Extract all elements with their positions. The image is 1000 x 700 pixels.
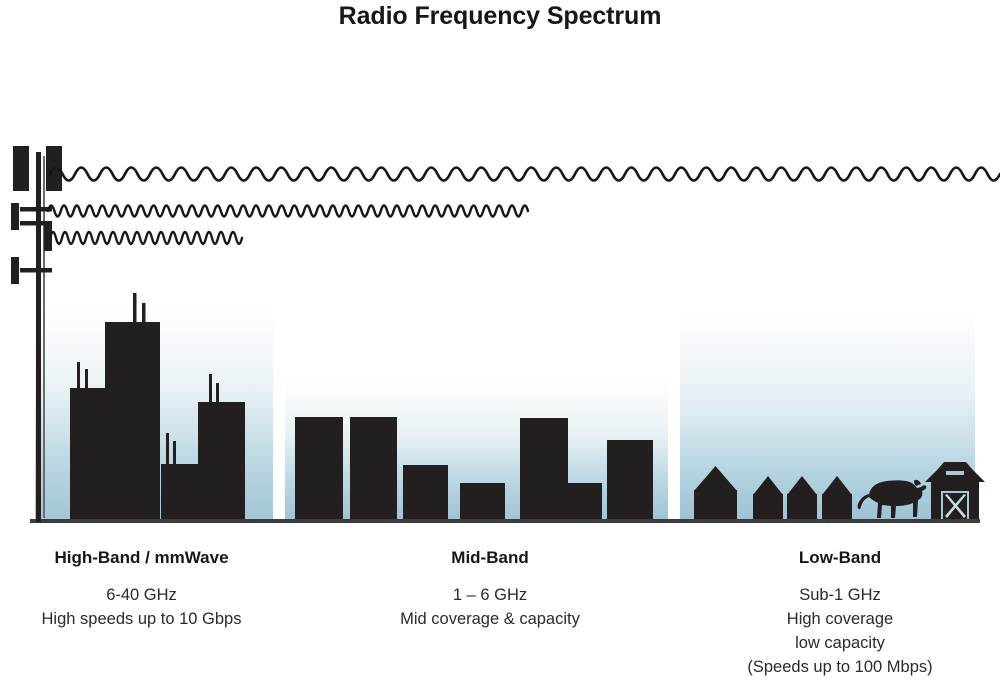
band-column-high-band: High-Band / mmWave 6-40 GHz High speeds … (0, 548, 283, 632)
band-description-mid-band: 1 – 6 GHz Mid coverage & capacity (340, 584, 640, 632)
cow-silhouette (858, 480, 927, 518)
city-skyline-high-band (70, 293, 245, 521)
band-column-low-band: Low-Band Sub-1 GHz High coverage low cap… (690, 548, 990, 679)
cell-tower (11, 146, 62, 522)
city-skyline-mid-band (295, 417, 653, 521)
rural-scene-low-band (694, 462, 985, 521)
tower-crossbar (20, 207, 52, 212)
antenna-panel (11, 203, 19, 230)
sky-panel-low-band (680, 310, 975, 520)
low-frequency-wave (50, 168, 1000, 181)
band-title-mid-band: Mid-Band (340, 548, 640, 568)
infographic-canvas: Radio Frequency Spectrum (0, 0, 1000, 700)
barn-silhouette (925, 462, 985, 521)
mid-frequency-wave (48, 206, 528, 217)
sky-panel-high-band (35, 307, 273, 520)
band-title-low-band: Low-Band (690, 548, 990, 568)
page-title: Radio Frequency Spectrum (0, 2, 1000, 31)
band-speed-low-band: (Speeds up to 100 Mbps) (690, 656, 990, 680)
antenna-panel (46, 146, 62, 191)
antenna-panel (44, 221, 52, 251)
tower-crossbar (20, 268, 52, 273)
ground-baseline (30, 519, 980, 523)
band-description-high-band: 6-40 GHz High speeds up to 10 Gbps (0, 584, 283, 632)
band-description-low-band: Sub-1 GHz High coverage low capacity (Sp… (690, 584, 990, 679)
band-speed-high-band: High speeds up to 10 Gbps (0, 608, 283, 632)
tower-crossbar (20, 221, 52, 226)
band-frequency-high-band: 6-40 GHz (0, 584, 283, 608)
high-frequency-wave (50, 232, 242, 244)
band-column-mid-band: Mid-Band 1 – 6 GHz Mid coverage & capaci… (340, 548, 640, 632)
farm-house (822, 476, 852, 521)
band-frequency-mid-band: 1 – 6 GHz (340, 584, 640, 608)
antenna-panel (11, 257, 19, 284)
farm-house (694, 466, 737, 521)
sky-panel-mid-band (285, 378, 668, 520)
band-capacity-low-band: low capacity (690, 632, 990, 656)
farm-house (753, 476, 783, 521)
band-title-high-band: High-Band / mmWave (0, 548, 283, 568)
farm-house (787, 476, 817, 521)
band-speed-mid-band: Mid coverage & capacity (340, 608, 640, 632)
antenna-panel (13, 146, 29, 191)
band-frequency-low-band: Sub-1 GHz (690, 584, 990, 608)
band-coverage-low-band: High coverage (690, 608, 990, 632)
